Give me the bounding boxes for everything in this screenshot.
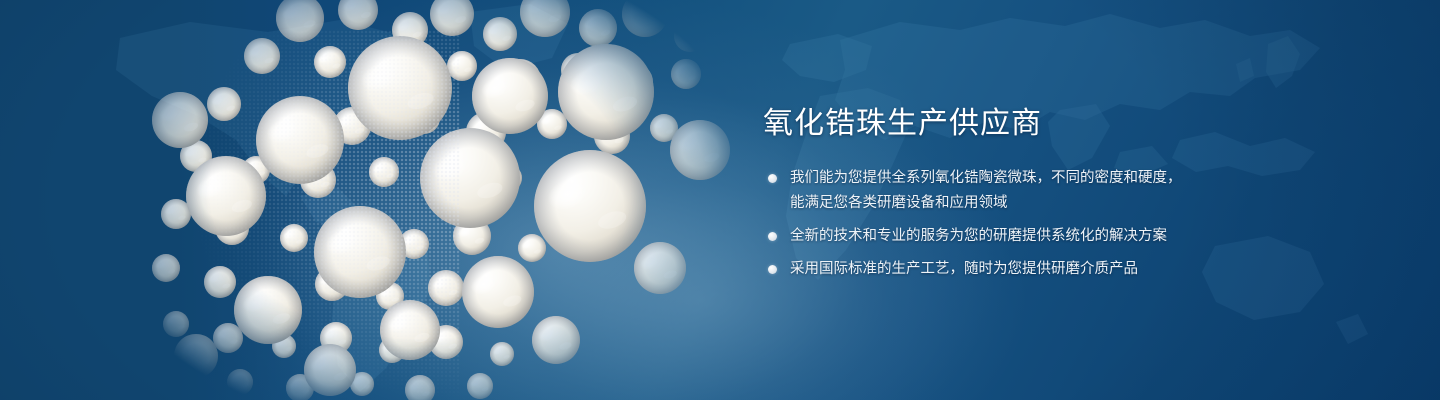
zirconia-beads-image <box>0 0 780 400</box>
list-item: 全新的技术和专业的服务为您的研磨提供系统化的解决方案 <box>763 224 1383 248</box>
list-item: 我们能为您提供全系列氧化锆陶瓷微珠，不同的密度和硬度， 能满足您各类研磨设备和应… <box>763 166 1383 215</box>
list-item-line: 全新的技术和专业的服务为您的研磨提供系统化的解决方案 <box>790 224 1383 248</box>
list-item-line: 能满足您各类研磨设备和应用领域 <box>790 191 1383 215</box>
banner-copy: 氧化锆珠生产供应商 我们能为您提供全系列氧化锆陶瓷微珠，不同的密度和硬度， 能满… <box>763 104 1383 281</box>
hero-banner: 氧化锆珠生产供应商 我们能为您提供全系列氧化锆陶瓷微珠，不同的密度和硬度， 能满… <box>0 0 1440 400</box>
list-item-line: 我们能为您提供全系列氧化锆陶瓷微珠，不同的密度和硬度， <box>790 166 1383 190</box>
bullet-dot-icon <box>768 174 777 183</box>
list-item-line: 采用国际标准的生产工艺，随时为您提供研磨介质产品 <box>790 257 1383 281</box>
bullet-dot-icon <box>768 232 777 241</box>
bullet-dot-icon <box>768 265 777 274</box>
list-item: 采用国际标准的生产工艺，随时为您提供研磨介质产品 <box>763 257 1383 281</box>
page-title: 氧化锆珠生产供应商 <box>763 104 1383 144</box>
feature-list: 我们能为您提供全系列氧化锆陶瓷微珠，不同的密度和硬度， 能满足您各类研磨设备和应… <box>763 166 1383 281</box>
